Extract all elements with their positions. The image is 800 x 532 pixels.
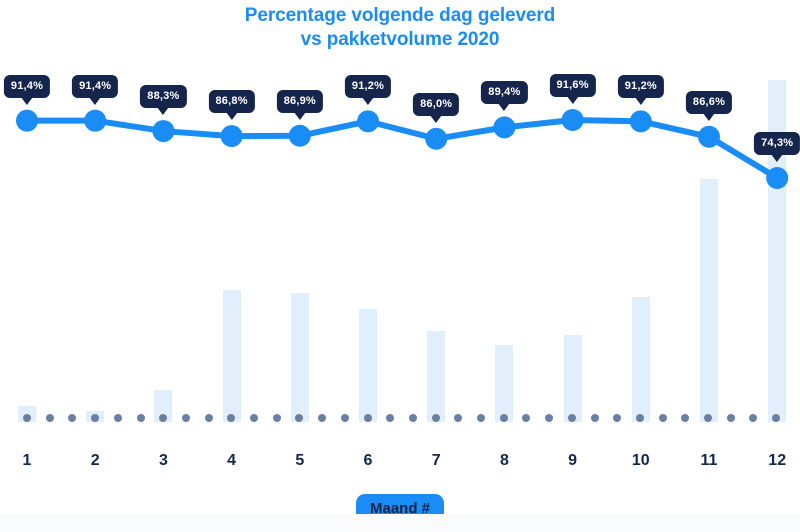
line-marker-month-9[interactable] bbox=[562, 109, 584, 131]
line-chart-svg bbox=[0, 0, 800, 470]
line-marker-month-3[interactable] bbox=[152, 120, 174, 142]
line-marker-month-12[interactable] bbox=[766, 167, 788, 189]
line-marker-month-2[interactable] bbox=[84, 110, 106, 132]
x-tick-1: 1 bbox=[23, 452, 32, 470]
data-label-month-11: 86,6% bbox=[686, 91, 732, 114]
data-label-month-2: 91,4% bbox=[72, 75, 118, 98]
x-tick-10: 10 bbox=[632, 452, 650, 470]
line-marker-month-4[interactable] bbox=[221, 125, 243, 147]
data-label-month-3: 88,3% bbox=[140, 85, 186, 108]
line-marker-month-6[interactable] bbox=[357, 110, 379, 132]
line-marker-month-5[interactable] bbox=[289, 125, 311, 147]
line-marker-month-1[interactable] bbox=[16, 110, 38, 132]
data-label-month-4: 86,8% bbox=[208, 90, 254, 113]
line-marker-month-7[interactable] bbox=[425, 128, 447, 150]
plot-area: 91,4%91,4%88,3%86,8%86,9%91,2%86,0%89,4%… bbox=[0, 0, 800, 470]
x-tick-12: 12 bbox=[768, 452, 786, 470]
line-series bbox=[0, 0, 800, 470]
data-label-month-5: 86,9% bbox=[277, 90, 323, 113]
line-marker-month-11[interactable] bbox=[698, 126, 720, 148]
x-tick-3: 3 bbox=[159, 452, 168, 470]
data-label-month-7: 86,0% bbox=[413, 93, 459, 116]
x-tick-7: 7 bbox=[432, 452, 441, 470]
x-tick-9: 9 bbox=[568, 452, 577, 470]
x-tick-4: 4 bbox=[227, 452, 236, 470]
line-path bbox=[27, 120, 777, 178]
data-label-month-6: 91,2% bbox=[345, 75, 391, 98]
line-marker-month-8[interactable] bbox=[493, 116, 515, 138]
line-marker-month-10[interactable] bbox=[630, 110, 652, 132]
x-tick-8: 8 bbox=[500, 452, 509, 470]
data-label-month-1: 91,4% bbox=[4, 75, 50, 98]
x-tick-5: 5 bbox=[295, 452, 304, 470]
data-label-month-8: 89,4% bbox=[481, 81, 527, 104]
data-label-month-9: 91,6% bbox=[549, 74, 595, 97]
x-tick-11: 11 bbox=[701, 452, 718, 470]
data-label-month-10: 91,2% bbox=[618, 75, 664, 98]
x-tick-6: 6 bbox=[364, 452, 373, 470]
data-label-month-12: 74,3% bbox=[754, 132, 800, 155]
x-axis-ticks: 123456789101112 bbox=[0, 452, 800, 484]
x-tick-2: 2 bbox=[91, 452, 100, 470]
chart-root: Percentage volgende dag geleverd vs pakk… bbox=[0, 0, 800, 532]
footer-strip bbox=[0, 514, 800, 532]
